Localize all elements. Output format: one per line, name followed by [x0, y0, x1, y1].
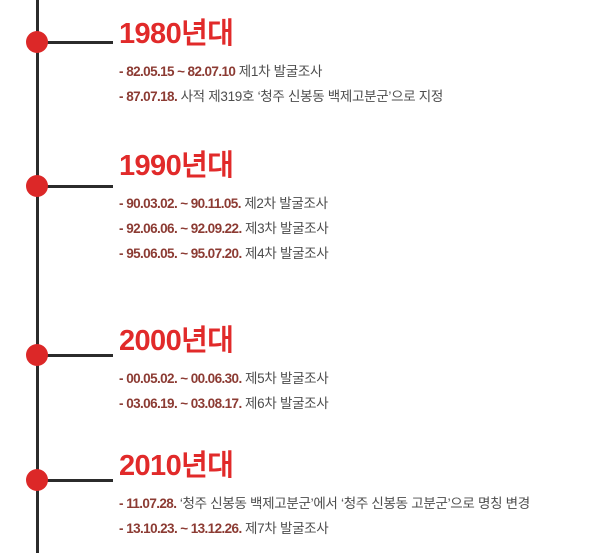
event-date: 87.07.18. — [126, 89, 177, 104]
event-item: -13.10.23. ~ 13.12.26. 제7차 발굴조사 — [119, 516, 600, 541]
event-list: -11.07.28. ‘청주 신봉동 백제고분군’에서 ‘청주 신봉동 고분군’… — [119, 491, 600, 541]
event-description: 사적 제319호 ‘청주 신봉동 백제고분군’으로 지정 — [181, 89, 443, 104]
timeline-connector — [37, 479, 113, 482]
event-dash: - — [119, 521, 123, 536]
era-content: 1980년대 -82.05.15 ~ 82.07.10 제1차 발굴조사 -87… — [119, 18, 600, 109]
event-list: -00.05.02. ~ 00.06.30. 제5차 발굴조사 -03.06.1… — [119, 366, 600, 416]
era-content: 2010년대 -11.07.28. ‘청주 신봉동 백제고분군’에서 ‘청주 신… — [119, 450, 600, 541]
event-item: -90.03.02. ~ 90.11.05. 제2차 발굴조사 — [119, 191, 600, 216]
era-title: 2010년대 — [119, 450, 600, 482]
event-dash: - — [119, 371, 123, 386]
event-item: -82.05.15 ~ 82.07.10 제1차 발굴조사 — [119, 59, 600, 84]
event-description: 제2차 발굴조사 — [244, 196, 327, 211]
event-dash: - — [119, 64, 123, 79]
event-description: 제1차 발굴조사 — [239, 64, 322, 79]
event-dash: - — [119, 221, 123, 236]
era-title: 1980년대 — [119, 18, 600, 50]
timeline-connector — [37, 41, 113, 44]
event-description: 제6차 발굴조사 — [245, 396, 328, 411]
event-description: ‘청주 신봉동 백제고분군’에서 ‘청주 신봉동 고분군’으로 명칭 변경 — [180, 496, 530, 511]
event-date: 11.07.28. — [126, 496, 176, 511]
event-item: -95.06.05. ~ 95.07.20. 제4차 발굴조사 — [119, 241, 600, 266]
event-item: -11.07.28. ‘청주 신봉동 백제고분군’에서 ‘청주 신봉동 고분군’… — [119, 491, 600, 516]
event-date: 13.10.23. ~ 13.12.26. — [126, 521, 241, 536]
event-date: 00.05.02. ~ 00.06.30. — [126, 371, 241, 386]
event-item: -00.05.02. ~ 00.06.30. 제5차 발굴조사 — [119, 366, 600, 391]
timeline-infographic: 1980년대 -82.05.15 ~ 82.07.10 제1차 발굴조사 -87… — [0, 0, 600, 553]
era-content: 1990년대 -90.03.02. ~ 90.11.05. 제2차 발굴조사 -… — [119, 150, 600, 266]
timeline-connector — [37, 185, 113, 188]
event-dash: - — [119, 196, 123, 211]
event-dash: - — [119, 246, 123, 261]
event-date: 03.06.19. ~ 03.08.17. — [126, 396, 241, 411]
event-item: -87.07.18. 사적 제319호 ‘청주 신봉동 백제고분군’으로 지정 — [119, 84, 600, 109]
event-list: -90.03.02. ~ 90.11.05. 제2차 발굴조사 -92.06.0… — [119, 191, 600, 266]
event-description: 제5차 발굴조사 — [245, 371, 328, 386]
event-date: 92.06.06. ~ 92.09.22. — [126, 221, 241, 236]
event-item: -92.06.06. ~ 92.09.22. 제3차 발굴조사 — [119, 216, 600, 241]
event-item: -03.06.19. ~ 03.08.17. 제6차 발굴조사 — [119, 391, 600, 416]
event-date: 90.03.02. ~ 90.11.05. — [126, 196, 241, 211]
event-dash: - — [119, 89, 123, 104]
event-description: 제3차 발굴조사 — [245, 221, 328, 236]
event-date: 95.06.05. ~ 95.07.20. — [126, 246, 241, 261]
era-content: 2000년대 -00.05.02. ~ 00.06.30. 제5차 발굴조사 -… — [119, 325, 600, 416]
timeline-node-dot — [26, 344, 48, 366]
event-dash: - — [119, 396, 123, 411]
timeline-node-dot — [26, 31, 48, 53]
event-list: -82.05.15 ~ 82.07.10 제1차 발굴조사 -87.07.18.… — [119, 59, 600, 109]
timeline-node-dot — [26, 469, 48, 491]
timeline-connector — [37, 354, 113, 357]
event-dash: - — [119, 496, 123, 511]
event-description: 제4차 발굴조사 — [245, 246, 328, 261]
event-description: 제7차 발굴조사 — [245, 521, 328, 536]
era-title: 2000년대 — [119, 325, 600, 357]
timeline-node-dot — [26, 175, 48, 197]
event-date: 82.05.15 ~ 82.07.10 — [126, 64, 235, 79]
era-title: 1990년대 — [119, 150, 600, 182]
